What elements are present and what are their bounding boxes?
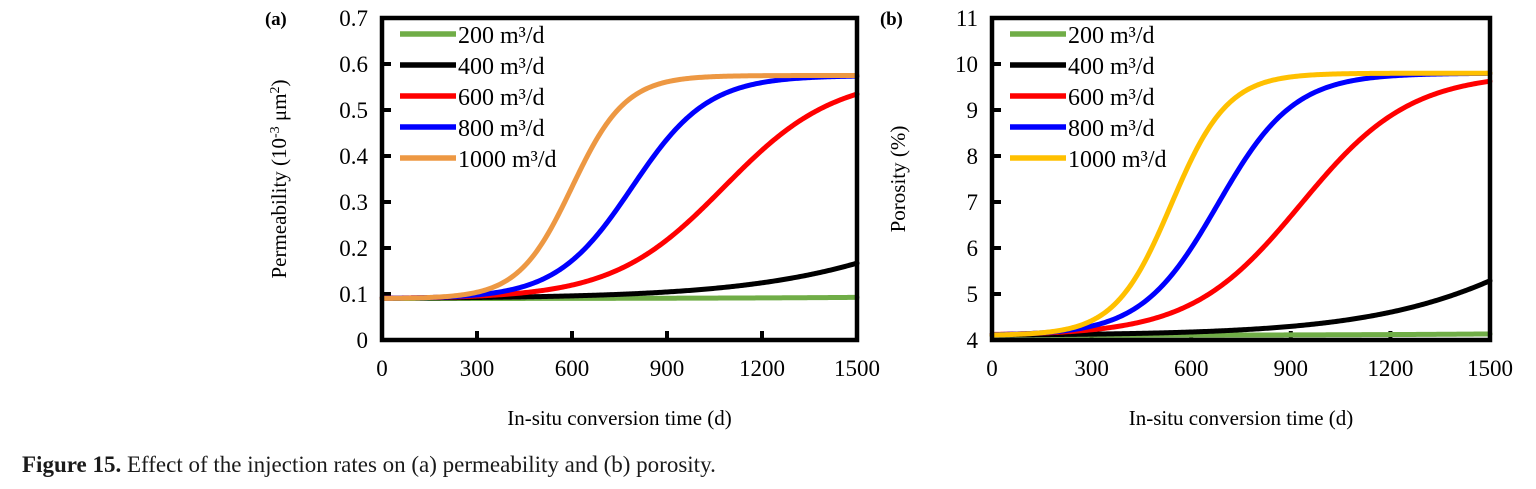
- x-tick-label: 0: [376, 356, 388, 381]
- y-tick-label: 8: [967, 144, 979, 169]
- y-tick-label: 0.7: [339, 6, 368, 31]
- plot-frame: [992, 18, 1490, 340]
- y-tick-label: 0.2: [339, 236, 368, 261]
- legend: 200 m³/d400 m³/d600 m³/d800 m³/d1000 m³/…: [1010, 23, 1167, 173]
- x-tick-label: 900: [650, 356, 685, 381]
- series-line: [992, 81, 1490, 334]
- y-tick-label: 7: [967, 190, 979, 215]
- legend-label: 200 m³/d: [1068, 23, 1155, 49]
- x-tick-label: 900: [1274, 356, 1309, 381]
- caption-text: Effect of the injection rates on (a) per…: [121, 452, 716, 477]
- legend-label: 1000 m³/d: [458, 147, 557, 173]
- legend-label: 400 m³/d: [1068, 54, 1155, 80]
- y-tick-label: 0.1: [339, 282, 368, 307]
- figure-caption: Figure 15. Effect of the injection rates…: [22, 452, 716, 478]
- series-line: [992, 73, 1490, 334]
- x-axis-label: In-situ conversion time (d): [1129, 406, 1354, 430]
- y-tick-label: 10: [955, 52, 978, 77]
- y-tick-label: 4: [967, 328, 979, 353]
- series-line: [992, 73, 1490, 335]
- legend-label: 600 m³/d: [458, 85, 545, 111]
- porosity-chart: 4567891011030060090012001500200 m³/d400 …: [865, 0, 1525, 440]
- x-tick-label: 300: [1074, 356, 1109, 381]
- y-tick-label: 0.6: [339, 52, 368, 77]
- x-tick-label: 600: [555, 356, 590, 381]
- x-tick-label: 0: [986, 356, 998, 381]
- panel-b-porosity: (b) 4567891011030060090012001500200 m³/d…: [865, 0, 1525, 440]
- y-tick-label: 0.4: [339, 144, 368, 169]
- legend-label: 200 m³/d: [458, 23, 545, 49]
- y-tick-label: 5: [967, 282, 979, 307]
- legend-label: 800 m³/d: [458, 116, 545, 142]
- x-axis-label: In-situ conversion time (d): [507, 406, 732, 430]
- y-tick-label: 0.5: [339, 98, 368, 123]
- legend: 200 m³/d400 m³/d600 m³/d800 m³/d1000 m³/…: [400, 23, 557, 173]
- y-axis-label: Permeability (10-3 μm2): [267, 79, 291, 278]
- x-tick-label: 1200: [739, 356, 785, 381]
- series-line: [382, 76, 857, 299]
- y-tick-label: 9: [967, 98, 979, 123]
- x-tick-label: 300: [460, 356, 495, 381]
- caption-lead: Figure 15.: [22, 452, 121, 477]
- series-group: [992, 73, 1490, 335]
- x-tick-label: 1500: [1467, 356, 1513, 381]
- y-tick-label: 6: [967, 236, 979, 261]
- legend-label: 800 m³/d: [1068, 116, 1155, 142]
- x-tick-label: 600: [1174, 356, 1209, 381]
- legend-label: 1000 m³/d: [1068, 147, 1167, 173]
- y-tick-label: 0.3: [339, 190, 368, 215]
- panel-a-permeability: (a) 00.10.20.30.40.50.60.703006009001200…: [250, 0, 900, 440]
- series-group: [382, 76, 857, 299]
- legend-label: 400 m³/d: [458, 54, 545, 80]
- y-axis-label: Porosity (%): [886, 126, 910, 233]
- figure-root: (a) 00.10.20.30.40.50.60.703006009001200…: [0, 0, 1536, 489]
- y-tick-label: 11: [956, 6, 978, 31]
- y-tick-label: 0: [357, 328, 369, 353]
- x-tick-label: 1200: [1367, 356, 1413, 381]
- legend-label: 600 m³/d: [1068, 85, 1155, 111]
- permeability-chart: 00.10.20.30.40.50.60.7030060090012001500…: [250, 0, 900, 440]
